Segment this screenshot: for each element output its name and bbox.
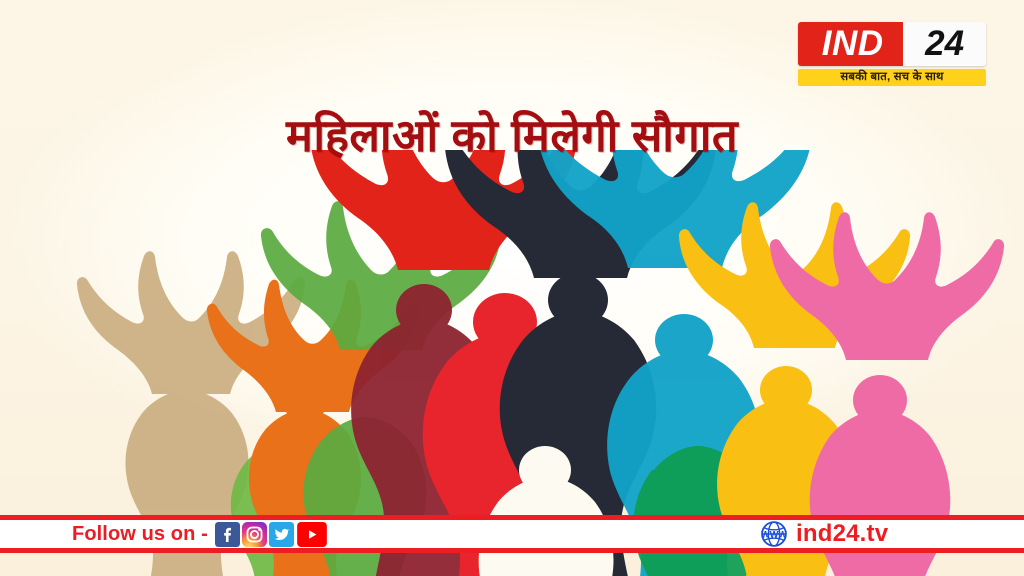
youtube-icon[interactable]: [296, 522, 328, 547]
instagram-icon[interactable]: [242, 522, 267, 547]
logo-24-text: 24: [903, 22, 986, 66]
svg-text:WWW: WWW: [761, 530, 787, 540]
news-graphic-canvas: महिलाओं को मिलेगी सौगात IND 24 सबकी बात,…: [0, 0, 1024, 576]
logo-ind-text: IND: [798, 22, 903, 66]
website-group[interactable]: WWW ind24.tv: [760, 520, 888, 548]
social-icons-row: [215, 522, 328, 547]
website-url-label[interactable]: ind24.tv: [796, 520, 888, 548]
follow-us-label: Follow us on -: [72, 523, 208, 546]
channel-logo[interactable]: IND 24 सबकी बात, सच के साथ: [798, 22, 986, 86]
logo-tagline: सबकी बात, सच के साथ: [798, 69, 986, 86]
footer-bar: Follow us on -: [0, 515, 1024, 553]
page-title: महिलाओं को मिलेगी सौगात: [0, 104, 1024, 165]
illustration-abstract-figures: [0, 150, 1024, 576]
globe-www-icon: WWW: [760, 520, 788, 548]
logo-wordmark: IND 24: [798, 22, 986, 66]
facebook-icon[interactable]: [215, 522, 240, 547]
follow-us-group: Follow us on -: [72, 522, 328, 547]
twitter-icon[interactable]: [269, 522, 294, 547]
